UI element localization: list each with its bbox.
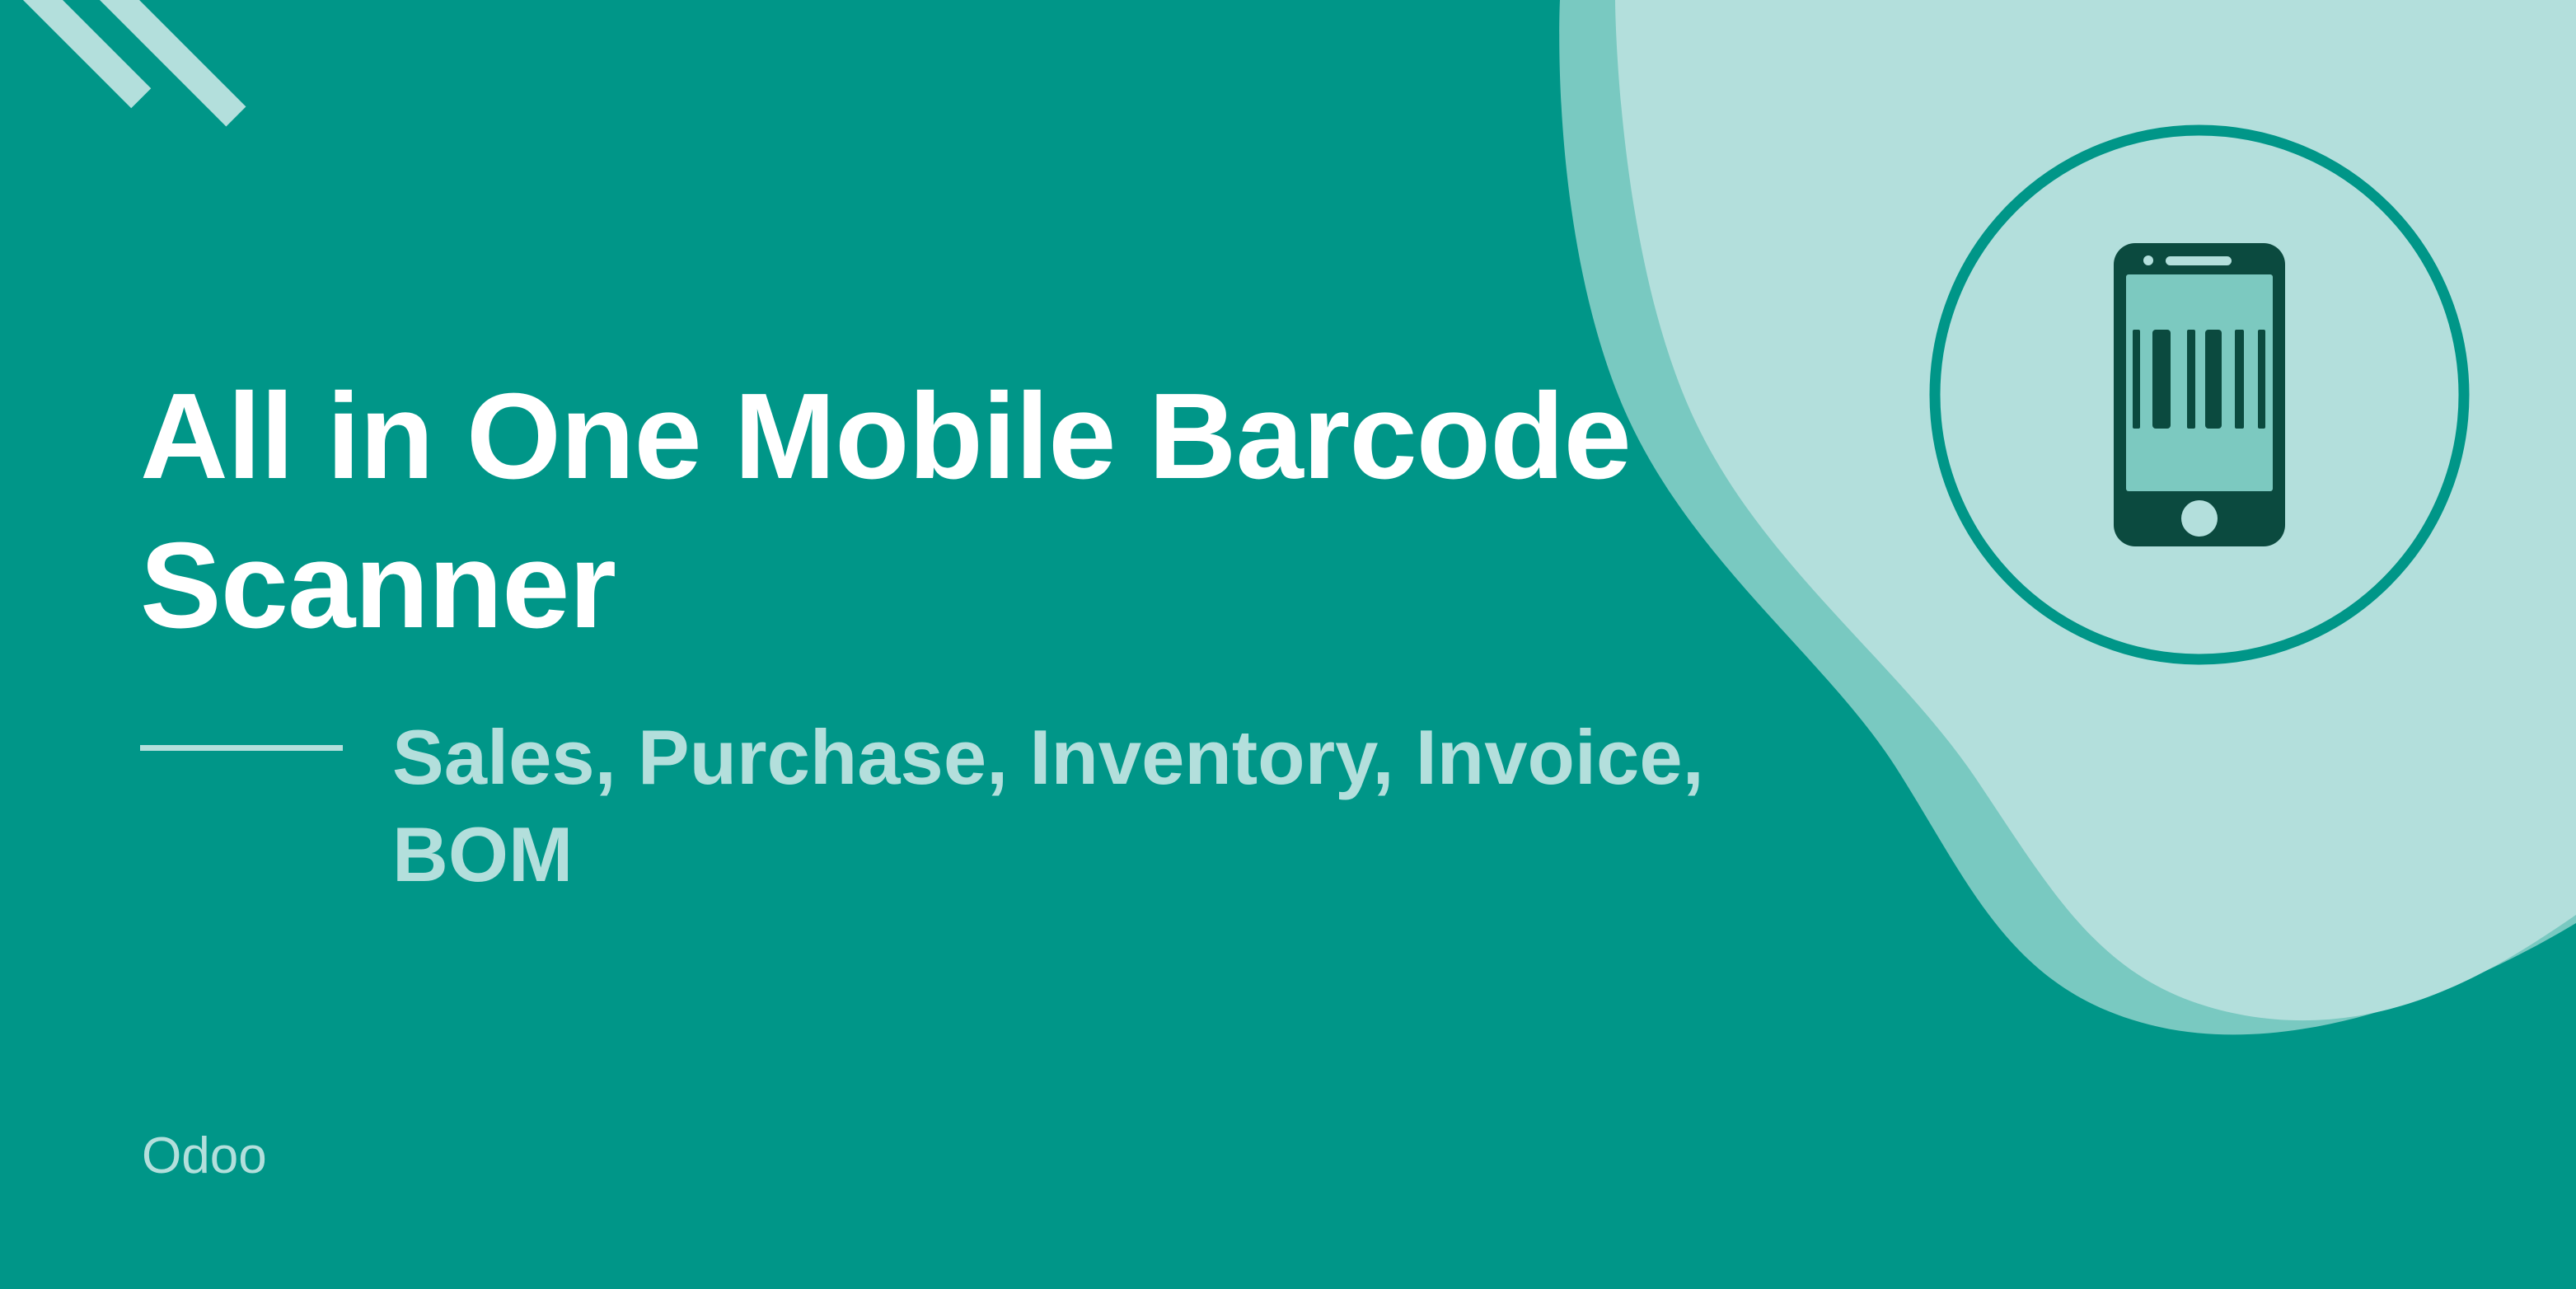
home-button-icon xyxy=(2181,500,2218,537)
barcode-bar xyxy=(2187,330,2195,429)
barcode-bar xyxy=(2152,330,2171,429)
camera-dot-icon xyxy=(2143,255,2153,265)
barcode-bar xyxy=(2205,330,2222,429)
brand-label: Odoo xyxy=(142,1131,267,1182)
barcode-bar xyxy=(2133,330,2140,429)
phone-screen xyxy=(2126,274,2273,491)
subtitle-block: Sales, Purchase, Inventory, Invoice, BOM xyxy=(140,709,1755,902)
slide-canvas: All in One Mobile Barcode Scanner Sales,… xyxy=(0,0,2576,1289)
page-title: All in One Mobile Barcode Scanner xyxy=(140,363,1755,660)
barcode-bar xyxy=(2235,330,2244,429)
subtitle-dash-rule xyxy=(140,745,343,751)
page-subtitle: Sales, Purchase, Inventory, Invoice, BOM xyxy=(392,709,1704,902)
title-block: All in One Mobile Barcode Scanner xyxy=(140,363,1755,660)
speaker-slot-icon xyxy=(2166,256,2232,265)
barcode-bar xyxy=(2258,330,2265,429)
